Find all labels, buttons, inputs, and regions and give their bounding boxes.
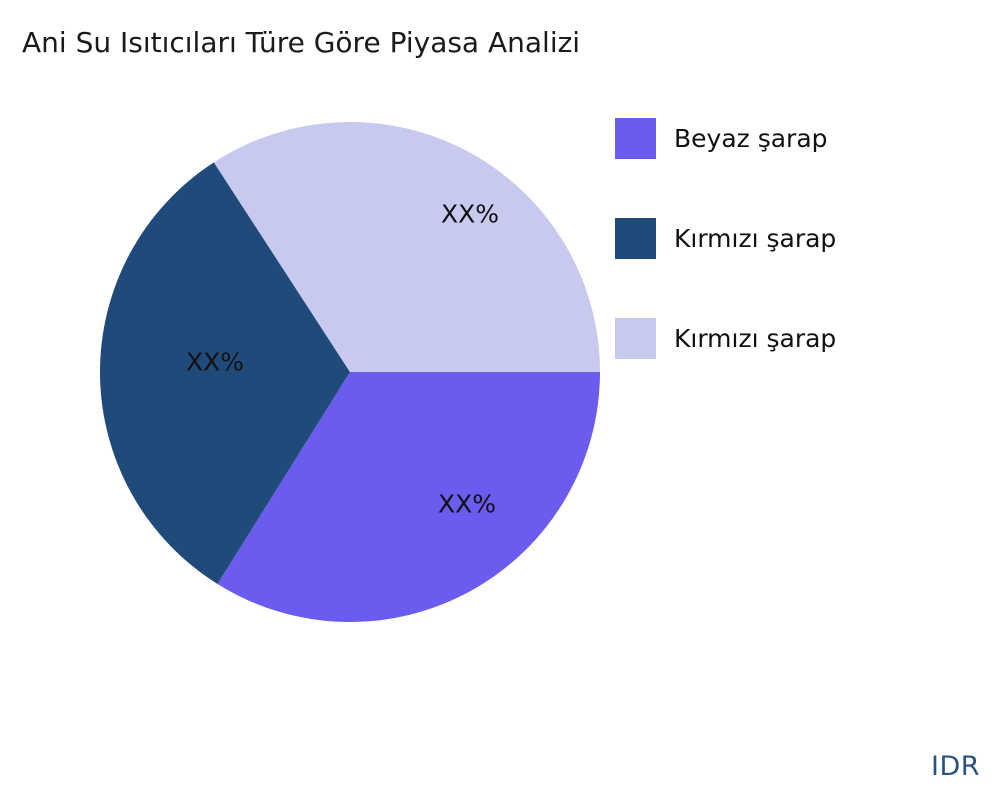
pie-slice-label-0: XX%: [438, 492, 496, 517]
pie-chart: XX% XX% XX%: [0, 0, 620, 700]
watermark-idr: IDR: [931, 751, 980, 782]
legend-item-label-0: Beyaz şarap: [674, 124, 828, 154]
legend-swatch-icon-2: [615, 318, 656, 359]
pie-slice-label-2: XX%: [441, 202, 499, 227]
pie-slice-label-1: XX%: [186, 350, 244, 375]
legend-item-0[interactable]: Beyaz şarap: [615, 118, 985, 159]
legend-swatch-icon-1: [615, 218, 656, 259]
legend-swatch-icon-0: [615, 118, 656, 159]
pie-chart-svg: [0, 0, 620, 700]
legend-item-1[interactable]: Kırmızı şarap: [615, 218, 985, 259]
legend-item-2[interactable]: Kırmızı şarap: [615, 318, 985, 359]
legend-item-label-1: Kırmızı şarap: [674, 224, 836, 254]
legend-item-label-2: Kırmızı şarap: [674, 324, 836, 354]
legend: Beyaz şarap Kırmızı şarap Kırmızı şarap: [615, 118, 985, 418]
